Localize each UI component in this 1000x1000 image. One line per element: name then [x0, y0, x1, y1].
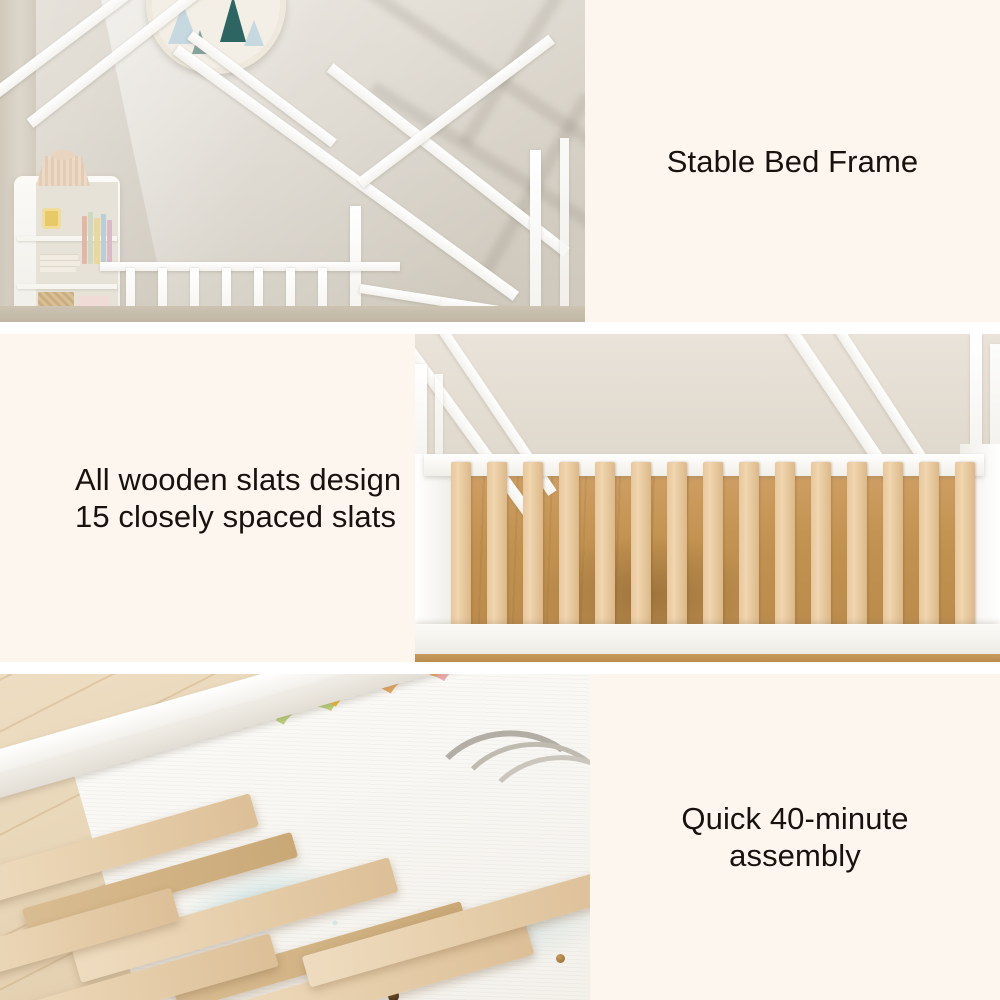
panel-1-caption: Stable Bed Frame — [667, 143, 918, 180]
dowel-peg — [556, 954, 565, 963]
bed-slat — [883, 462, 903, 634]
bed-rail-foot — [415, 624, 1000, 654]
panel-2-caption: All wooden slats design 15 closely space… — [75, 461, 401, 535]
nursery-floor — [0, 306, 585, 322]
bookshelf — [14, 176, 120, 322]
pine-tree-motif — [220, 0, 246, 42]
infographic-page: Stable Bed Frame All wooden slats design… — [0, 0, 1000, 1000]
bed-slat — [811, 462, 831, 634]
panel-3-caption: Quick 40-minute assembly — [681, 800, 908, 874]
lamp-shade — [36, 156, 90, 186]
panel-3-caption-area: Quick 40-minute assembly — [590, 674, 1000, 1000]
bed-slat — [451, 462, 471, 634]
book — [82, 216, 87, 264]
bed-slat — [631, 462, 651, 634]
bed-slat — [775, 462, 795, 634]
panel-2-photo — [415, 334, 1000, 662]
book — [88, 212, 93, 264]
bed-slat — [523, 462, 543, 634]
bed-slat — [919, 462, 939, 634]
panel-divider-2 — [0, 662, 1000, 674]
feature-panel-wooden-slats: All wooden slats design 15 closely space… — [0, 334, 1000, 662]
book — [101, 214, 106, 264]
panel-1-caption-area: Stable Bed Frame — [585, 0, 1000, 322]
bed-slat — [703, 462, 723, 634]
panel-1-photo — [0, 0, 585, 322]
oak-floor-strip — [415, 654, 1000, 662]
bed-slat — [739, 462, 759, 634]
feature-panel-quick-assembly: Quick 40-minute assembly — [0, 674, 1000, 1000]
bed-slat — [595, 462, 615, 634]
soft-tree-motif — [244, 20, 264, 46]
bed-slat — [487, 462, 507, 634]
bed-slat — [559, 462, 579, 634]
book — [107, 220, 112, 264]
bed-slat — [847, 462, 867, 634]
book — [94, 218, 100, 264]
feature-panel-stable-bed-frame: Stable Bed Frame — [0, 0, 1000, 322]
bed-slat — [667, 462, 687, 634]
bed-post-far — [560, 138, 569, 322]
shelf-board — [17, 284, 117, 289]
bed-slat — [955, 462, 975, 634]
book-stack — [40, 266, 76, 272]
clock-decor — [42, 208, 61, 229]
panel-3-photo — [0, 674, 590, 1000]
bed-rail — [100, 262, 400, 271]
lamp-finial — [52, 150, 74, 160]
bed-post-right — [530, 150, 541, 322]
panel-divider-1 — [0, 322, 1000, 334]
